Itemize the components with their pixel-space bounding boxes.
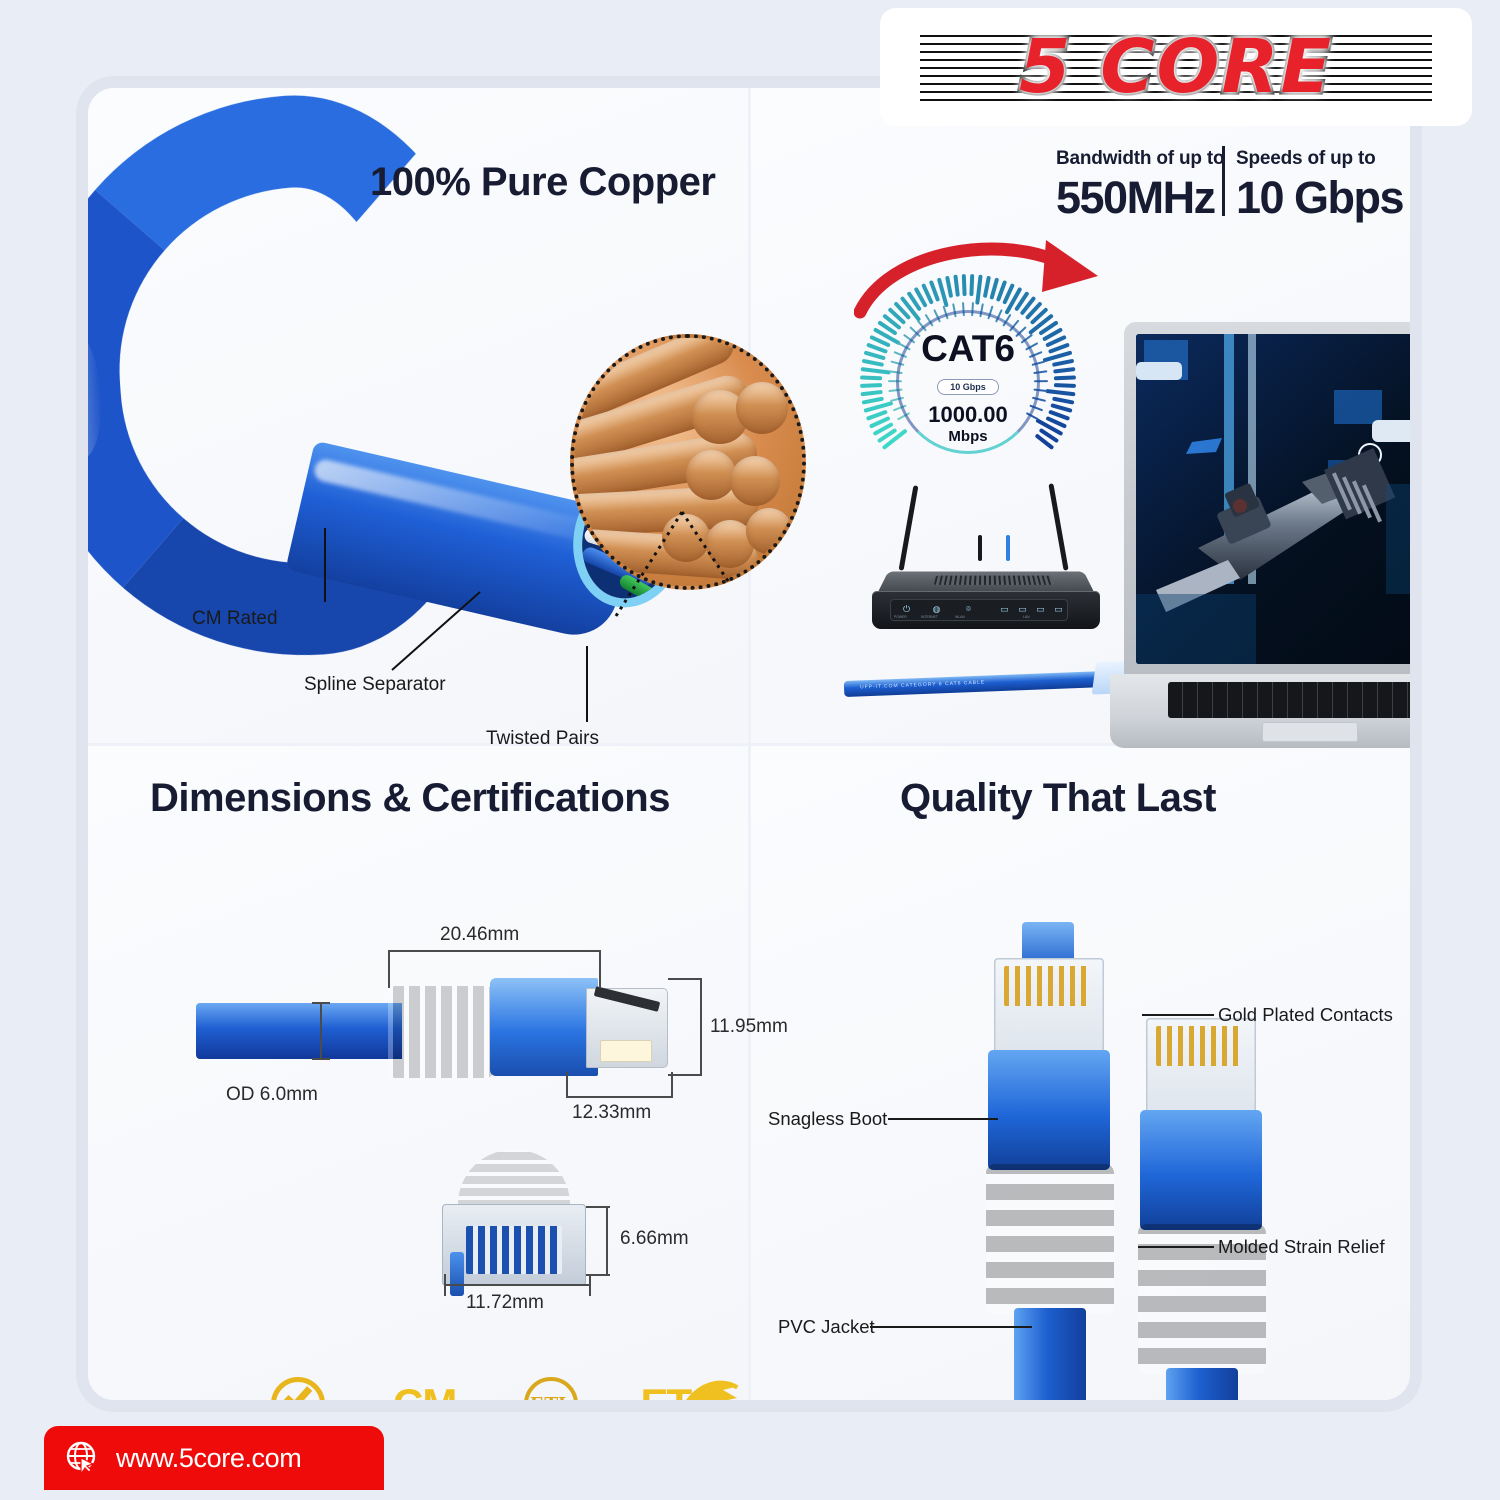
laptop-base — [1110, 674, 1410, 748]
copper-callout-leader — [608, 498, 738, 628]
dim-length-value: 20.46mm — [440, 924, 519, 946]
dimline-front-height — [606, 1206, 608, 1276]
router-antenna-blue — [1006, 535, 1010, 561]
dimline-height-tick-bottom — [668, 1074, 702, 1076]
dimline-od — [320, 1002, 322, 1060]
gauge-badge: 10 Gbps — [937, 379, 999, 395]
laptop-lid — [1124, 322, 1410, 678]
router-led-panel: ⏻ POWER ◍ INTERNET ⌾ WLAN ▭ ▭ ▭ ▭ LAN — [890, 599, 1068, 621]
router-antenna-small — [978, 535, 982, 561]
dimline-front-width-tick-right — [589, 1274, 591, 1296]
rj45-connector-side — [986, 958, 1114, 1398]
dimline-height — [700, 978, 702, 1076]
dimline-front-width — [444, 1284, 590, 1286]
cert-etl: ETL ETL VERIFIED — [491, 1373, 611, 1400]
leader-strain-relief — [1138, 1246, 1214, 1248]
dim-front-width-value: 11.72mm — [466, 1292, 544, 1314]
gauge-readout: CAT6 10 Gbps 1000.00 Mbps — [860, 274, 1076, 490]
cert-rohs: RoHS RoHS COMPLIANT — [238, 1373, 358, 1400]
router-led-lan-label: LAN — [1023, 615, 1030, 619]
label-gold-contacts: Gold Plated Contacts — [1218, 1004, 1393, 1026]
router-led-lan4-icon: ▭ — [1053, 604, 1064, 615]
certification-row: RoHS RoHS COMPLIANT CM CM MARKED ETL ETL… — [238, 1373, 738, 1400]
router-front-shell: ⏻ POWER ◍ INTERNET ⌾ WLAN ▭ ▭ ▭ ▭ LAN — [872, 591, 1100, 629]
label-snagless-boot: Snagless Boot — [768, 1108, 887, 1130]
globe-cursor-icon — [66, 1441, 100, 1475]
copper-heading: 100% Pure Copper — [370, 160, 715, 205]
rj45-gold-pins-right — [1156, 1026, 1244, 1066]
speed-spec: Speeds of up to 10 Gbps — [1236, 148, 1403, 224]
rohs-check-icon: RoHS — [238, 1373, 358, 1400]
connector-front-tab — [450, 1252, 464, 1296]
spline-leader — [388, 586, 508, 676]
dimension-boot — [388, 986, 494, 1078]
gauge-category: CAT6 — [921, 328, 1015, 370]
quality-heading: Quality That Last — [900, 776, 1216, 821]
connector-front-body — [442, 1204, 586, 1286]
leader-pvc-jacket — [870, 1326, 1032, 1328]
dimline-plug-tick-left — [566, 1072, 568, 1098]
label-cm-rated: CM Rated — [192, 608, 278, 630]
twisted-pairs-leader — [586, 646, 588, 722]
leader-snagless-boot — [888, 1118, 998, 1120]
dim-plug-value: 12.33mm — [572, 1102, 651, 1124]
cable-print-text: UFP-IT.COM CATEGORY 6 CAT6 CABLE — [860, 680, 985, 691]
router-led-power-icon: ⏻ — [901, 604, 912, 615]
dim-front-height-value: 6.66mm — [620, 1228, 689, 1250]
connector-front-pins — [466, 1226, 562, 1274]
cm-mark-text: CM — [393, 1380, 456, 1400]
rj45-strain-relief-left — [986, 1164, 1114, 1314]
cert-eta: ETA ETL VERIFIED — [618, 1373, 738, 1400]
router-led-power-label: POWER — [894, 615, 907, 619]
website-url: www.5core.com — [116, 1443, 301, 1474]
dimline-length-tick-left — [388, 950, 390, 988]
plug-gold-contacts-graphic — [600, 1040, 652, 1062]
label-twisted-pairs: Twisted Pairs — [486, 728, 599, 750]
dimline-plug — [566, 1096, 672, 1098]
label-strain-relief: Molded Strain Relief — [1218, 1236, 1385, 1258]
bandwidth-value: 550MHz — [1056, 172, 1224, 224]
speed-caption: Speeds of up to — [1236, 148, 1403, 170]
rj45-pins-left — [1004, 966, 1092, 1006]
rj45-jacket-left — [1014, 1308, 1086, 1400]
dimline-plug-tick-right — [671, 1072, 673, 1098]
laptop-graphic — [1110, 322, 1410, 764]
etl-circle-icon: ETL — [491, 1373, 611, 1400]
dimension-cable-body — [196, 1003, 402, 1059]
etl-mark-text: ETL — [524, 1377, 578, 1400]
router-led-internet-label: INTERNET — [921, 615, 938, 619]
dim-height-value: 11.95mm — [710, 1016, 788, 1038]
bandwidth-spec: Bandwidth of up to 550MHz — [1056, 148, 1224, 224]
website-footer-bar[interactable]: www.5core.com — [44, 1426, 384, 1490]
dimline-front-width-tick-left — [444, 1274, 446, 1296]
eta-arrow-icon: ETA — [618, 1373, 738, 1400]
laptop-keyboard — [1168, 682, 1410, 718]
router-led-wlan-label: WLAN — [955, 615, 965, 619]
laptop-trackpad — [1262, 722, 1358, 742]
cm-mark-icon: CM — [365, 1373, 485, 1400]
cert-cm: CM CM MARKED — [365, 1373, 485, 1400]
dim-od-value: OD 6.0mm — [226, 1084, 318, 1106]
router-led-lan1-icon: ▭ — [999, 604, 1010, 615]
dimline-od-tick-top — [312, 1002, 330, 1004]
speed-gauge: CAT6 10 Gbps 1000.00 Mbps — [860, 274, 1076, 490]
logo-text: 5 CORE — [906, 21, 1446, 113]
rj45-connector-front — [1138, 1018, 1266, 1398]
leader-gold-contacts — [1142, 1014, 1214, 1016]
router-led-wlan-icon: ⌾ — [963, 604, 974, 615]
rj45-boot-left — [988, 1050, 1110, 1170]
speed-value: 10 Gbps — [1236, 172, 1403, 224]
laptop-screen — [1136, 334, 1410, 664]
infographic-root: 100% Pure Copper CM Rated Spline Separat… — [0, 0, 1500, 1500]
dimline-height-tick-top — [668, 978, 702, 980]
router-led-lan2-icon: ▭ — [1017, 604, 1028, 615]
label-spline-separator: Spline Separator — [304, 674, 446, 696]
dimline-front-height-tick-top — [586, 1206, 610, 1208]
rj45-jacket-right — [1166, 1368, 1238, 1400]
dimensions-heading: Dimensions & Certifications — [150, 776, 670, 821]
dimline-od-tick-bottom — [312, 1058, 330, 1060]
dimline-length — [388, 950, 600, 952]
bandwidth-caption: Bandwidth of up to — [1056, 148, 1224, 170]
gauge-reading: 1000.00 — [928, 402, 1008, 428]
gauge-unit: Mbps — [948, 428, 987, 445]
rj45-boot-right — [1140, 1110, 1262, 1230]
main-card: 100% Pure Copper CM Rated Spline Separat… — [88, 88, 1410, 1400]
router-led-internet-icon: ◍ — [931, 604, 942, 615]
spec-divider — [1222, 146, 1225, 216]
label-pvc-jacket: PVC Jacket — [778, 1316, 875, 1338]
router-led-lan3-icon: ▭ — [1035, 604, 1046, 615]
connector-front-boot — [458, 1150, 570, 1212]
cm-rated-leader — [324, 528, 326, 602]
router-vents — [934, 576, 1054, 585]
brand-logo: 5 CORE — [880, 8, 1472, 126]
dimline-length-tick-right — [599, 950, 601, 988]
wifi-router-graphic: ⏻ POWER ◍ INTERNET ⌾ WLAN ▭ ▭ ▭ ▭ LAN — [868, 553, 1104, 633]
dimension-plug — [490, 978, 598, 1076]
